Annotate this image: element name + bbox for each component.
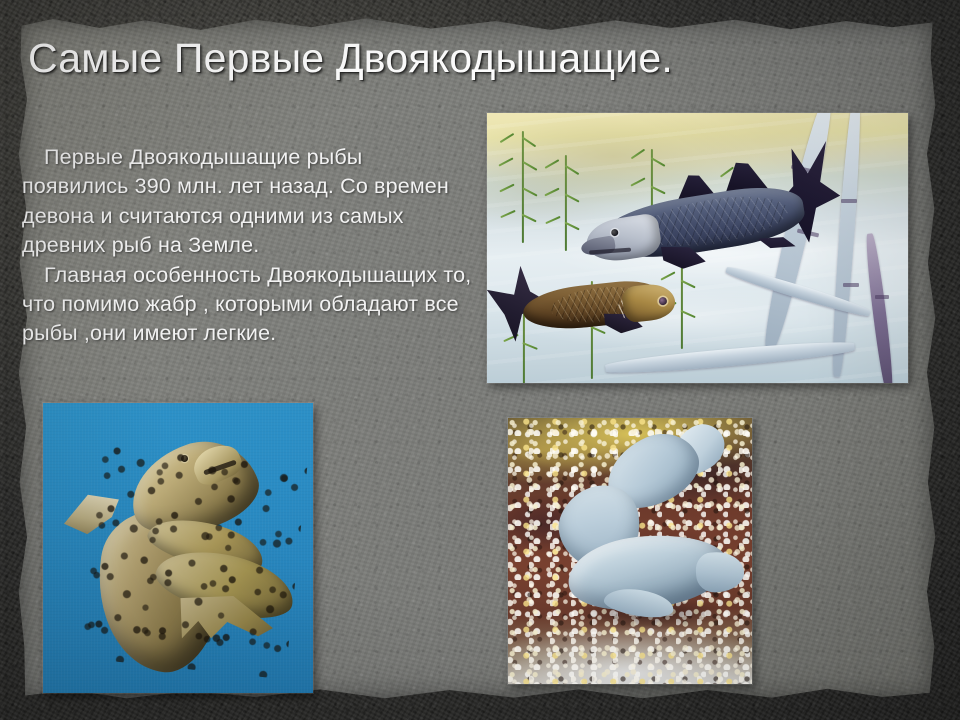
gravel-lungfish-photo <box>508 418 752 684</box>
slide-body-text: Первые Двоякодышащие рыбы появились 390 … <box>22 143 474 349</box>
branch-ring <box>875 295 889 299</box>
devonian-artwork <box>487 113 908 383</box>
presentation-slide: Самые Первые Двоякодышащие. Первые Двояк… <box>0 0 960 720</box>
branch-ring <box>841 199 857 203</box>
spotted-lungfish-photo <box>43 403 313 693</box>
fish-head <box>621 282 676 323</box>
water-plant <box>513 131 533 243</box>
slide-content: Самые Первые Двоякодышащие. Первые Двояк… <box>0 0 960 720</box>
body-paragraph-2: Главная особенность Двоякодышащих то, чт… <box>22 261 474 349</box>
water-plant <box>557 155 575 251</box>
image-spotted-lungfish <box>43 403 313 693</box>
body-paragraph-1: Первые Двоякодышащие рыбы появились 390 … <box>22 143 474 261</box>
image-gravel-lungfish <box>508 418 752 684</box>
slide-title: Самые Первые Двоякодышащие. <box>28 34 908 82</box>
image-devonian-scene <box>487 113 908 383</box>
branch-ring <box>843 283 859 287</box>
fish-eye <box>181 455 188 462</box>
